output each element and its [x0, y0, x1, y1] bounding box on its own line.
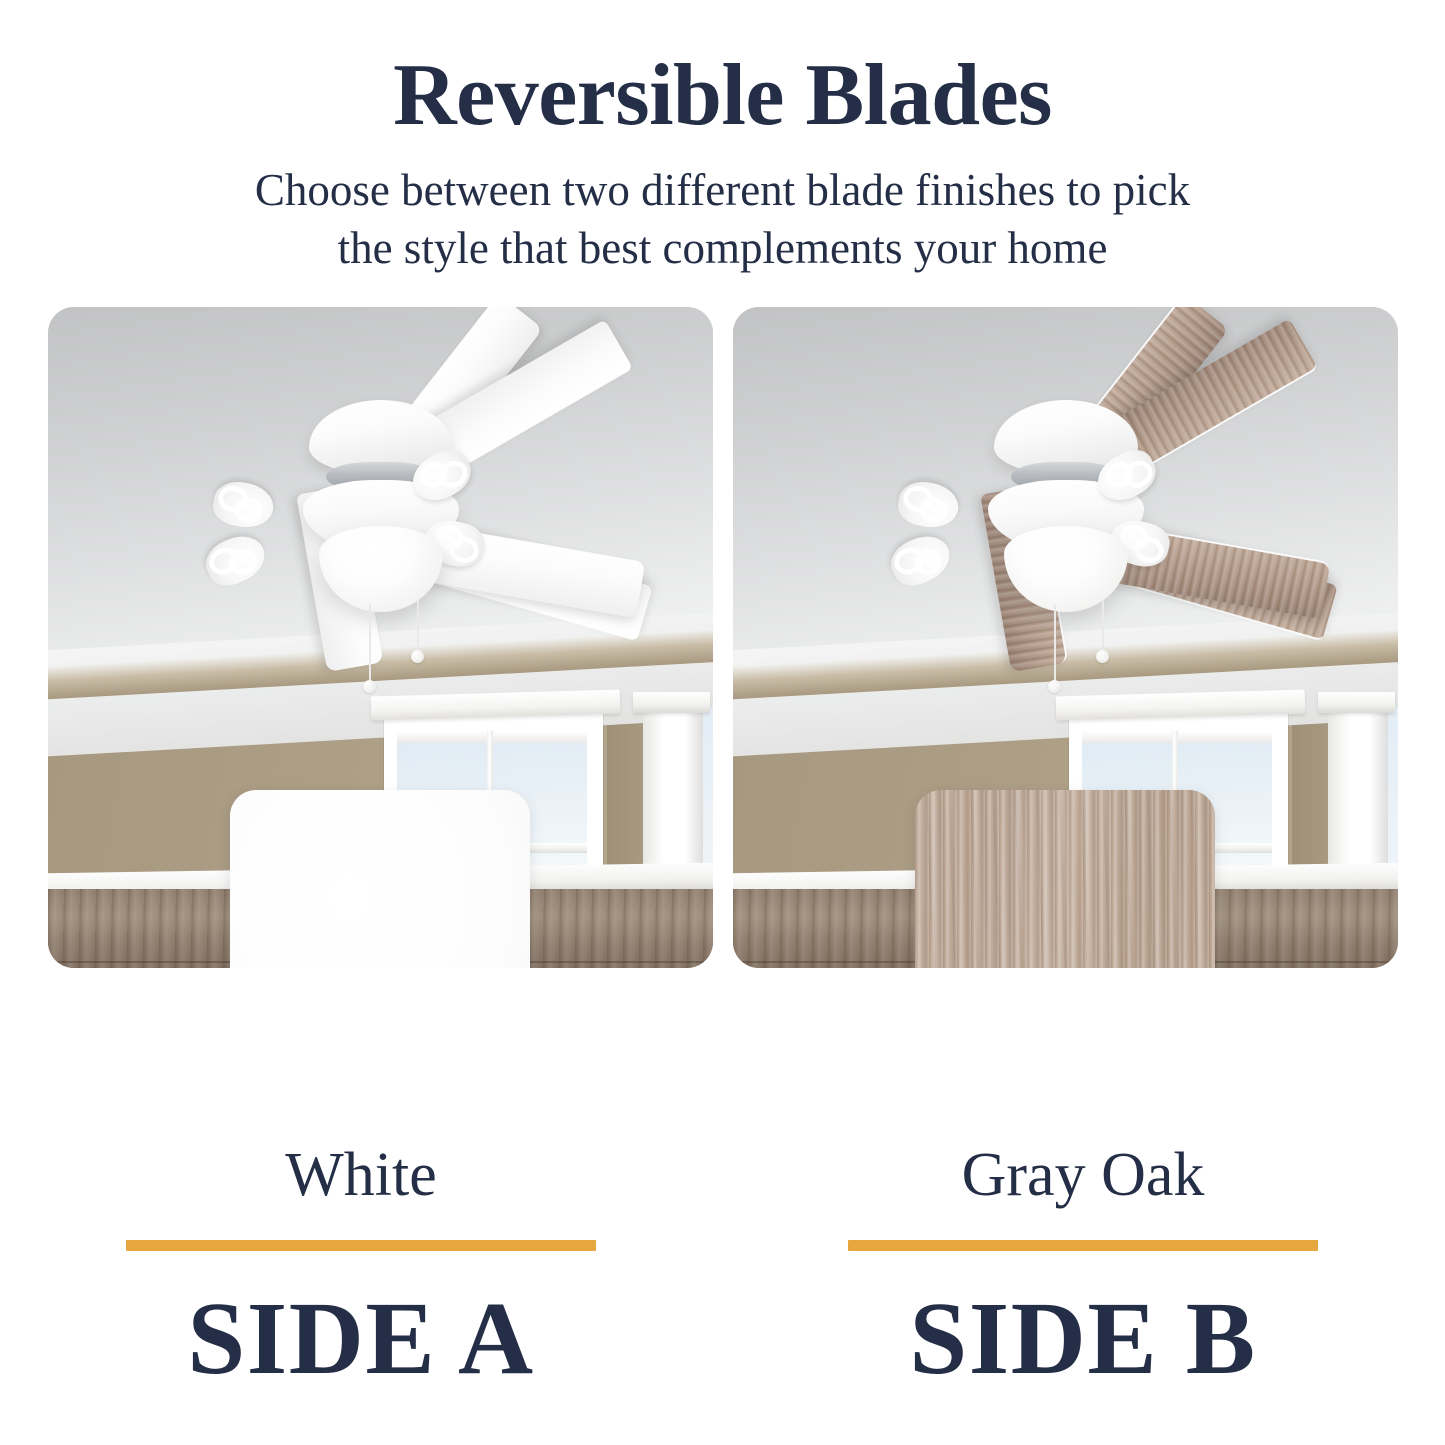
- white-blade-swatch[interactable]: [230, 790, 530, 968]
- finish-labels: White SIDE A Gray Oak SIDE B: [0, 1000, 1445, 1391]
- side-label-side-b: SIDE B: [722, 1251, 1444, 1391]
- finish-column-side-a: White SIDE A: [0, 1000, 722, 1391]
- header: Reversible Blades Choose between two dif…: [0, 0, 1445, 277]
- fan-pull-knob: [411, 650, 424, 663]
- finish-name-side-b: Gray Oak: [722, 1000, 1444, 1206]
- gold-divider-side-a: [126, 1240, 596, 1251]
- fan-pull-chain: [417, 600, 419, 652]
- room-photo-side-a[interactable]: [48, 307, 713, 968]
- finish-column-side-b: Gray Oak SIDE B: [722, 1000, 1444, 1391]
- fan-pull-knob: [363, 680, 376, 693]
- page-title: Reversible Blades: [0, 0, 1445, 140]
- fan-pull-chain: [369, 604, 371, 682]
- room-photo-side-b[interactable]: [733, 307, 1398, 968]
- fan-pull-chain: [1054, 604, 1056, 682]
- corner-column-cap: [1318, 692, 1394, 713]
- fan-pull-chain: [1102, 600, 1104, 652]
- side-label-side-a: SIDE A: [0, 1251, 722, 1391]
- subtitle-line-1: Choose between two different blade finis…: [255, 165, 1190, 215]
- gray-oak-blade-swatch[interactable]: [915, 790, 1215, 968]
- finish-name-side-a: White: [0, 1000, 722, 1206]
- fan-pull-knob: [1048, 680, 1061, 693]
- comparison-panels: [48, 307, 1398, 968]
- subtitle-line-2: the style that best complements your hom…: [338, 223, 1108, 273]
- corner-column-cap: [633, 692, 709, 713]
- subtitle: Choose between two different blade finis…: [0, 140, 1445, 277]
- gold-divider-side-b: [848, 1240, 1318, 1251]
- fan-pull-knob: [1096, 650, 1109, 663]
